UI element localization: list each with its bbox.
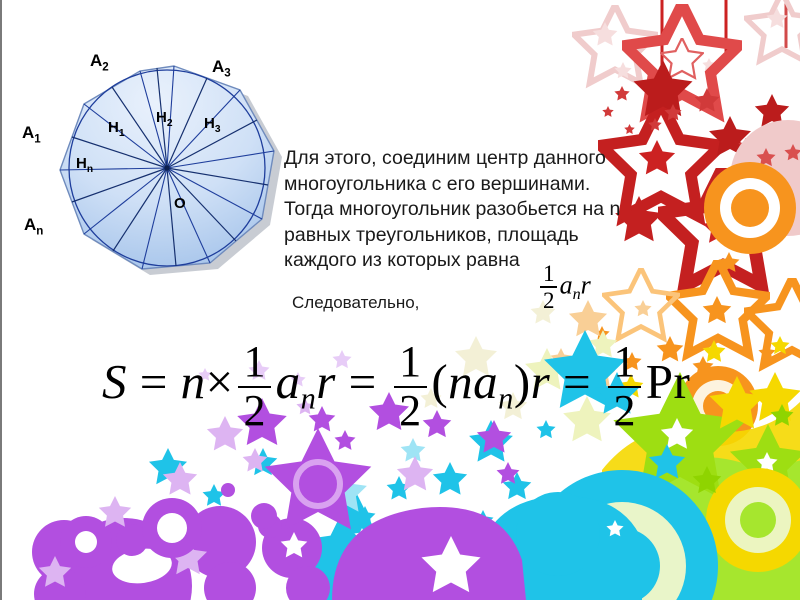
variable-r: r [581,270,591,299]
fraction-one-half-3: 12 [608,340,641,434]
center-point [164,165,169,170]
apothem-label-H1: H1 [108,120,125,139]
formula-equals-1: = [140,354,168,409]
vertex-label-A3: A3 [212,58,231,80]
vertex-label-A1: A1 [22,124,41,146]
inline-formula-half-an-r: 1 2 anr [538,262,591,313]
formula-r-2: r [531,354,551,409]
body-line-3: Тогда многоугольник разобьется на n [284,197,656,223]
formula-S: S [102,354,127,409]
fraction-one-half-1: 12 [238,340,271,434]
body-line-2: многоугольника с его вершинами. [284,172,656,198]
geometry-figure: A1 A2 A3 An H1 H2 H3 Hn O [54,58,294,298]
formula-a-2: a [473,354,498,409]
body-text-block: Для этого, соединим центр данного многоу… [284,146,656,274]
center-label-O: O [174,196,186,211]
vertex-label-An: An [24,216,43,238]
formula-equals-3: = [563,354,591,409]
fraction-one-half-inline: 1 2 [540,262,557,313]
formula-close-paren: ) [514,354,531,409]
formula-P: P [646,354,674,409]
formula-equals-2: = [349,354,377,409]
presentation-slide: A1 A2 A3 An H1 H2 H3 Hn O Для этого, сое… [0,0,800,600]
variable-a: a [560,270,573,299]
formula-r-3: r [673,354,690,409]
formula-n-1: n [181,354,206,409]
formula-a-2-sub: n [498,381,514,415]
apothem-label-Hn: Hn [76,156,93,175]
subscript-n: n [573,286,581,303]
body-line-4: равных треугольников, площадь [284,223,656,249]
apothem-label-H2: H2 [156,110,173,129]
formula-r-1: r [316,354,336,409]
body-line-1: Для этого, соединим центр данного [284,146,656,172]
formula-times: × [206,354,234,409]
body-line-5: каждого из которых равна [284,248,656,274]
main-formula: S = n×12anr = 12(nan)r = 12Pr [102,340,690,434]
fraction-one-half-2: 12 [394,340,427,434]
formula-open-paren: ( [431,354,448,409]
formula-n-2: n [448,354,473,409]
decagon-svg [54,58,294,298]
apothem-label-H3: H3 [204,116,221,135]
conclusion-text: Следовательно, [292,293,419,313]
vertex-label-A2: A2 [90,52,109,74]
formula-a-1-sub: n [301,381,317,415]
formula-a-1: a [276,354,301,409]
